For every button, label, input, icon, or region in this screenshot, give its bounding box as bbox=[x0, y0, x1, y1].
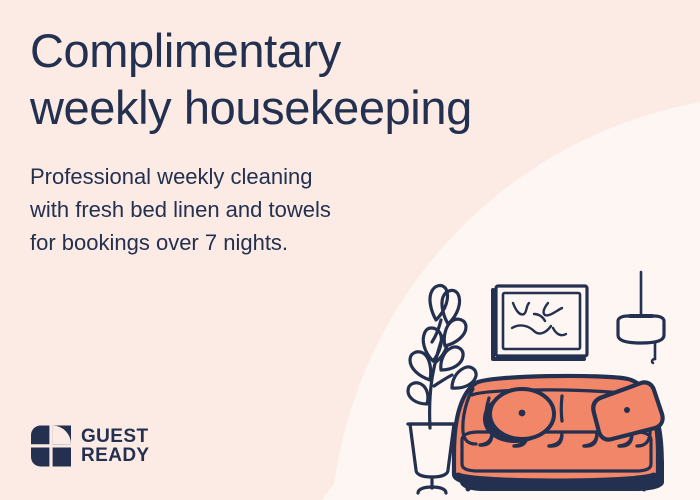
card-content: Complimentary weekly housekeeping Profes… bbox=[0, 0, 700, 500]
subcopy-line-3: for bookings over 7 nights. bbox=[30, 226, 450, 259]
headline-line-1: Complimentary bbox=[30, 22, 650, 79]
guestready-mark-icon bbox=[31, 424, 71, 468]
brand-word-1: GUEST bbox=[81, 427, 150, 446]
brand-logo: GUEST READY bbox=[31, 424, 150, 468]
headline-line-2: weekly housekeeping bbox=[30, 79, 650, 136]
subcopy-line-2: with fresh bed linen and towels bbox=[30, 193, 450, 226]
brand-wordmark: GUEST READY bbox=[81, 427, 150, 466]
living-room-illustration bbox=[396, 258, 700, 500]
brand-word-2: READY bbox=[81, 446, 150, 465]
page-title: Complimentary weekly housekeeping bbox=[30, 22, 650, 137]
framed-picture-icon bbox=[493, 286, 587, 359]
subcopy-line-1: Professional weekly cleaning bbox=[30, 160, 450, 193]
subcopy: Professional weekly cleaning with fresh … bbox=[30, 160, 450, 259]
promo-card: Complimentary weekly housekeeping Profes… bbox=[0, 0, 700, 500]
pendant-lamp-icon bbox=[618, 272, 664, 363]
sofa-icon bbox=[454, 376, 664, 491]
